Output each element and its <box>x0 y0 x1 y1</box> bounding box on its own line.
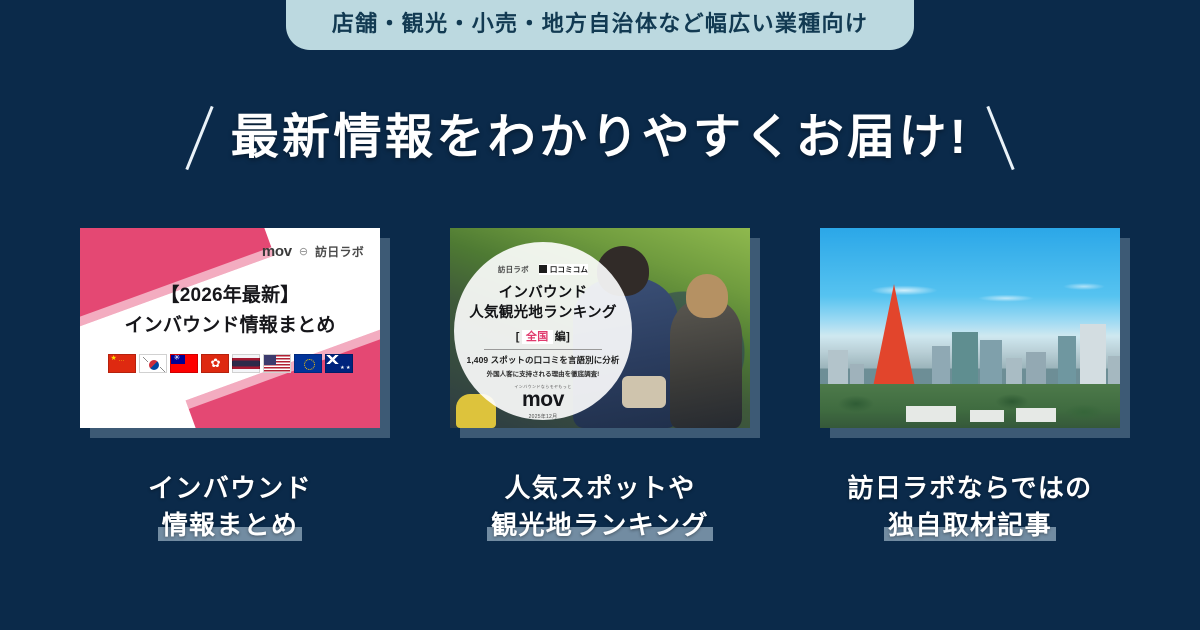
mov-logo-text: mov <box>522 390 564 410</box>
caption-line1: インバウンド <box>80 470 380 507</box>
caption-line2-row: 観光地ランキング <box>450 507 750 544</box>
photo-shoulder-bag <box>622 376 666 408</box>
thumbnail-tokyo-cityscape[interactable] <box>820 228 1120 428</box>
houkilabo-logo-text: 訪日ラボ <box>498 264 529 275</box>
circular-title-overlay: 訪日ラボ 口コミコム インバウンド 人気観光地ランキング [全国編] 1,409… <box>454 242 632 420</box>
caption-line2-row: 独自取材記事 <box>820 507 1120 544</box>
overlay-logo-row: 訪日ラボ 口コミコム <box>498 264 588 275</box>
chip-bracket-right: ] <box>566 331 570 343</box>
mov-houkilabo-logo: mov ⊖ 訪日ラボ <box>262 243 364 260</box>
caption-line2: 情報まとめ <box>158 507 303 544</box>
caption-inbound-summary: インバウンド 情報まとめ <box>80 470 380 544</box>
kuchikomicom-logo-text: 口コミコム <box>539 264 588 275</box>
flag-australia-icon <box>325 354 353 373</box>
caption-row: インバウンド 情報まとめ 人気スポットや 観光地ランキング 訪日ラボならではの … <box>0 470 1200 544</box>
chip-suffix: 編 <box>555 331 566 343</box>
overlay-title-line1: インバウンド <box>499 283 588 303</box>
top-ribbon-pill: 店舗・観光・小売・地方自治体など幅広い業種向け <box>286 0 914 50</box>
caption-popular-spot-ranking: 人気スポットや 観光地ランキング <box>450 470 750 544</box>
flag-hong-kong-icon <box>201 354 229 373</box>
chip-bracket-left: [ <box>516 331 520 343</box>
sky-clouds <box>820 280 1120 306</box>
mov-logo-text: mov <box>262 243 292 260</box>
flag-taiwan-icon <box>170 354 198 373</box>
card-thumbnail-row: mov ⊖ 訪日ラボ 【2026年最新】 インバウンド情報まとめ <box>0 228 1200 428</box>
card-original-reporting[interactable] <box>820 228 1120 428</box>
tokyo-tower-landmark <box>872 284 916 392</box>
headline-row: 最新情報をわかりやすくお届け! <box>0 104 1200 172</box>
kuchikomicom-label: 口コミコム <box>550 265 588 274</box>
overlay-subtitle-line2: 外国人客に支持される理由を徹底調査! <box>487 368 600 378</box>
publication-date: 2025年12月 <box>529 413 558 420</box>
country-flag-row <box>108 354 353 373</box>
foreground-building <box>970 410 1004 422</box>
caption-original-reporting: 訪日ラボならではの 独自取材記事 <box>820 470 1120 544</box>
caption-line2: 独自取材記事 <box>884 507 1056 544</box>
caption-line2: 観光地ランキング <box>487 507 713 544</box>
flag-united-states-icon <box>263 354 291 373</box>
card-inbound-summary[interactable]: mov ⊖ 訪日ラボ 【2026年最新】 インバウンド情報まとめ <box>80 228 380 428</box>
caption-line1: 人気スポットや <box>450 470 750 507</box>
top-ribbon-container: 店舗・観光・小売・地方自治体など幅広い業種向け <box>0 0 1200 50</box>
flag-thailand-icon <box>232 354 260 373</box>
flag-china-icon <box>108 354 136 373</box>
caption-line2-row: 情報まとめ <box>80 507 380 544</box>
overlay-title-line2: 人気観光地ランキング <box>469 303 616 323</box>
region-chip: [全国編] <box>516 328 571 344</box>
flag-south-korea-icon <box>139 354 167 373</box>
kuchikomicom-mark-icon <box>539 265 547 273</box>
chip-region-label: 全国 <box>522 330 553 344</box>
foreground-building <box>1016 408 1056 422</box>
slide-title-line2: インバウンド情報まとめ <box>124 313 335 338</box>
page-title: 最新情報をわかりやすくお届け! <box>231 112 969 165</box>
slide-title-line1: 【2026年最新】 <box>161 283 300 308</box>
logo-separator-icon: ⊖ <box>299 245 308 258</box>
thumbnail-popular-spot-ranking[interactable]: 訪日ラボ 口コミコム インバウンド 人気観光地ランキング [全国編] 1,409… <box>450 228 750 428</box>
houkilabo-logo-text: 訪日ラボ <box>315 243 364 260</box>
overlay-subtitle-line1: 1,409 スポットの口コミを言語別に分析 <box>467 354 620 366</box>
photo-person-woman <box>670 300 742 428</box>
left-slash-decoration <box>185 106 213 170</box>
card-popular-spot-ranking[interactable]: 訪日ラボ 口コミコム インバウンド 人気観光地ランキング [全国編] 1,409… <box>450 228 750 428</box>
foreground-building <box>906 406 956 422</box>
flag-european-union-icon <box>294 354 322 373</box>
caption-line1: 訪日ラボならではの <box>820 470 1120 507</box>
thumbnail-inbound-summary[interactable]: mov ⊖ 訪日ラボ 【2026年最新】 インバウンド情報まとめ <box>80 228 380 428</box>
right-slash-decoration <box>987 106 1015 170</box>
overlay-divider <box>484 349 602 350</box>
